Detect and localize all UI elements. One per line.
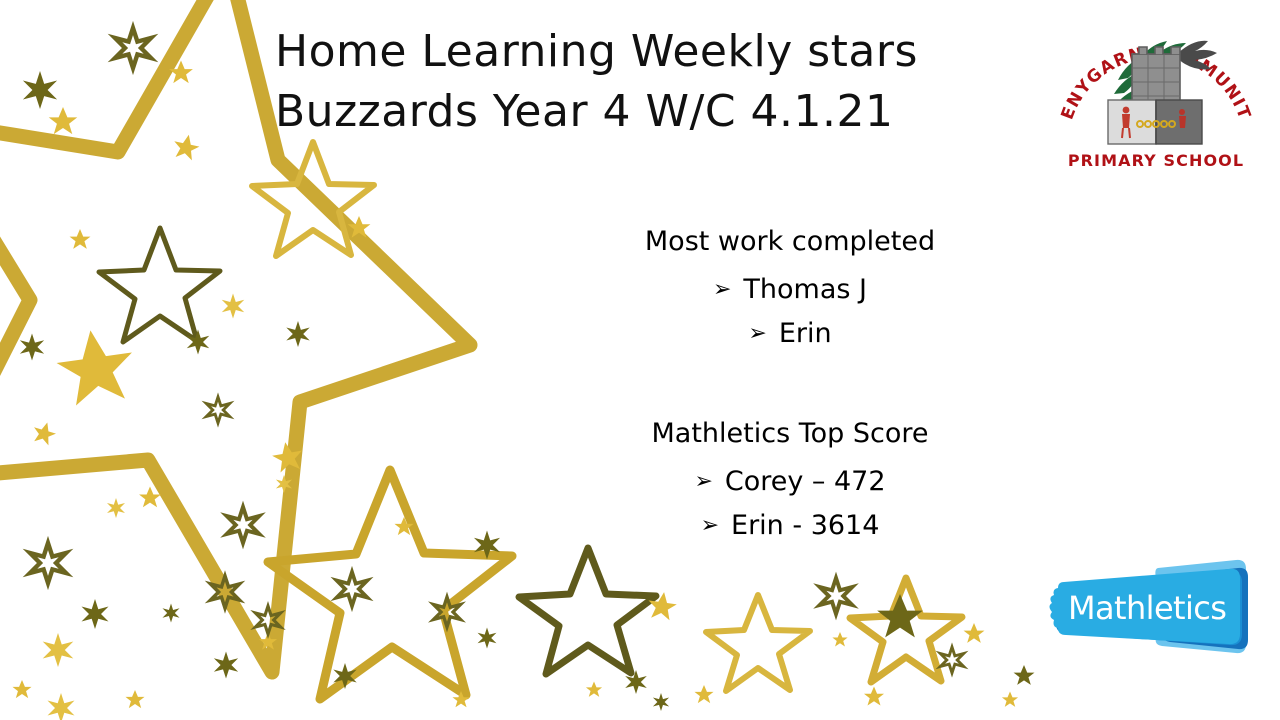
- logo-bottom-text: PRIMARY SCHOOL: [1068, 151, 1244, 170]
- outline-star-gold-br2: [850, 578, 962, 682]
- outline-star-olive-bottom: [519, 548, 656, 674]
- book-plinth: [1108, 100, 1202, 144]
- arrow-bullet-icon: ➢: [748, 312, 766, 356]
- figure-right: [1179, 109, 1186, 128]
- list-item: ➢Thomas J: [560, 268, 1020, 312]
- list-item: ➢Corey – 472: [560, 460, 1020, 504]
- outline-star-upper: [252, 142, 374, 256]
- arrow-bullet-icon: ➢: [694, 460, 712, 504]
- title-line-1: Home Learning Weekly stars: [275, 22, 1015, 82]
- list-item: ➢Erin - 3614: [560, 504, 1020, 548]
- list-item: ➢Erin: [560, 312, 1020, 356]
- title-line-2: Buzzards Year 4 W/C 4.1.21: [275, 82, 1015, 142]
- mathletics-wordmark: Mathletics: [1068, 589, 1226, 627]
- bullet-list: ➢Corey – 472 ➢Erin - 3614: [560, 460, 1020, 548]
- outline-star-gold-br: [706, 595, 810, 691]
- arrow-bullet-icon: ➢: [713, 268, 731, 312]
- list-item-label: Thomas J: [743, 274, 867, 305]
- slide-title: Home Learning Weekly stars Buzzards Year…: [275, 22, 1015, 142]
- list-item-label: Erin - 3614: [731, 510, 879, 541]
- list-item-label: Erin: [779, 318, 832, 349]
- outline-star-olive-left: [99, 228, 220, 342]
- content-block: Most work completed ➢Thomas J ➢Erin Math…: [560, 222, 1020, 548]
- outline-star-bottom: [268, 470, 512, 699]
- section-most-work-completed: Most work completed ➢Thomas J ➢Erin: [560, 222, 1020, 356]
- section-heading: Mathletics Top Score: [560, 414, 1020, 454]
- bullet-list: ➢Thomas J ➢Erin: [560, 268, 1020, 356]
- penygarn-community-primary-school-logo: PENYGARN COMMUNITY: [1056, 8, 1256, 173]
- list-item-label: Corey – 472: [725, 466, 886, 497]
- mathletics-logo: Mathletics: [1040, 558, 1270, 670]
- slide-canvas: Home Learning Weekly stars Buzzards Year…: [0, 0, 1280, 720]
- section-mathletics-top-score: Mathletics Top Score ➢Corey – 472 ➢Erin …: [560, 414, 1020, 548]
- arrow-bullet-icon: ➢: [701, 504, 719, 548]
- section-heading: Most work completed: [560, 222, 1020, 262]
